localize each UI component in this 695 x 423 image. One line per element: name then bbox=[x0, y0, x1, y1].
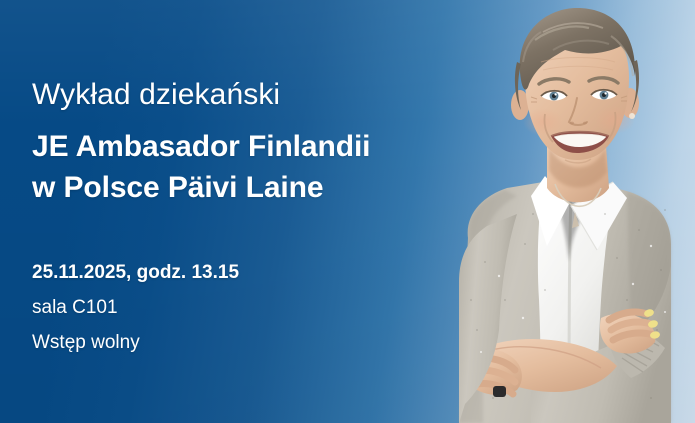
event-poster: Wykład dziekański JE Ambasador Finlandii… bbox=[0, 0, 695, 423]
hand-right bbox=[600, 308, 661, 354]
figure-shirt bbox=[531, 176, 627, 423]
poster-details: 25.11.2025, godz. 13.15 sala C101 Wstęp … bbox=[32, 255, 239, 360]
headline-line-1: JE Ambasador Finlandii bbox=[32, 130, 370, 163]
headline-line-2: w Polsce Päivi Laine bbox=[32, 167, 370, 208]
poster-headline: JE Ambasador Finlandii w Polsce Päivi La… bbox=[32, 126, 370, 208]
event-date-time: 25.11.2025, godz. 13.15 bbox=[32, 255, 239, 290]
event-admission: Wstęp wolny bbox=[32, 325, 239, 360]
eyes bbox=[531, 90, 627, 102]
poster-kicker: Wykład dziekański bbox=[32, 78, 280, 112]
poster-text-block: Wykład dziekański JE Ambasador Finlandii… bbox=[32, 0, 432, 423]
cardigan-texture bbox=[470, 209, 666, 399]
figure-crossed-arms bbox=[459, 214, 671, 423]
figure-torso bbox=[459, 180, 671, 423]
figure-neck bbox=[547, 132, 609, 202]
necklace bbox=[555, 184, 601, 228]
figure-head bbox=[511, 8, 639, 163]
event-room: sala C101 bbox=[32, 290, 239, 325]
cardigan-sparkle bbox=[480, 245, 666, 353]
hand-left bbox=[463, 349, 522, 397]
mouth-smiling bbox=[544, 112, 615, 163]
